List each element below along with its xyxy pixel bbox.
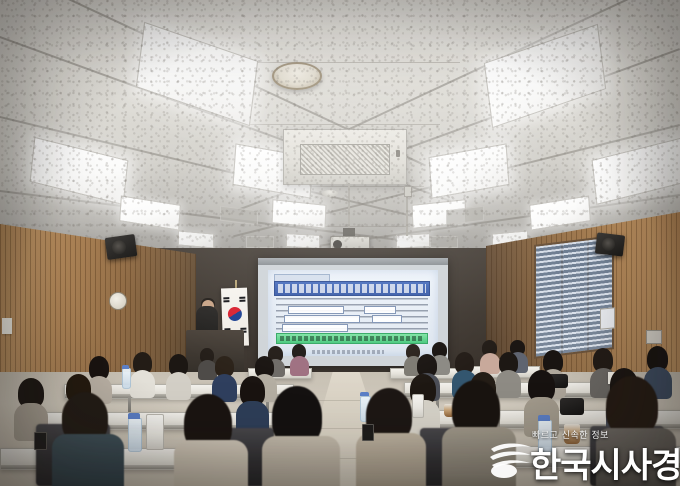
ceiling-vent-tile	[430, 236, 458, 248]
led-panel-light	[429, 143, 510, 198]
wall-speaker-right	[595, 232, 625, 256]
flag-trigram	[239, 297, 245, 299]
water-bottle-icon	[122, 368, 131, 389]
tumbler-icon	[412, 394, 424, 418]
slide-footer-text	[312, 350, 384, 354]
ceiling-grid-line	[233, 125, 680, 238]
speaker-cone-icon	[111, 239, 127, 255]
screen-roller	[258, 258, 448, 265]
ceiling-grid-line	[230, 62, 460, 63]
led-panel-light	[272, 199, 327, 229]
led-panel-light	[30, 137, 129, 205]
handbag-icon	[560, 398, 584, 415]
slide-highlight-box	[372, 315, 402, 323]
flag-trigram	[239, 300, 245, 302]
bottle-cap	[360, 392, 369, 396]
person-torso	[52, 434, 124, 486]
flag-taegeuk	[228, 307, 242, 321]
person-torso	[596, 428, 676, 486]
bottle-cap	[122, 365, 129, 369]
person-torso	[496, 370, 521, 398]
person-torso	[442, 427, 516, 486]
ceiling-sensor-icon	[404, 186, 412, 197]
ceiling-cable	[406, 196, 408, 236]
ceiling-vent-tile	[246, 236, 274, 248]
person-torso	[290, 356, 309, 376]
ceiling-grid-line	[0, 0, 426, 166]
ac-sensor-icon	[396, 150, 400, 157]
led-panel-light	[119, 195, 181, 230]
led-panel-light	[529, 195, 591, 230]
slide-green-highlight-bar	[276, 333, 428, 344]
wall-clock-icon	[109, 292, 127, 310]
seminar-hall-photo: 빠르고 신속한 정보 한국시사경제	[0, 0, 680, 486]
person-torso	[262, 436, 340, 486]
tumbler-icon	[146, 414, 164, 450]
ceiling-grid-line	[268, 186, 424, 187]
person-hair	[606, 376, 658, 436]
ceiling-grid-line	[253, 0, 680, 175]
ceiling-grid-line	[0, 36, 451, 202]
ceiling-grid-line	[0, 116, 457, 227]
led-panel-light	[396, 233, 430, 249]
bottle-cap	[128, 413, 140, 419]
dome-ceiling-light	[272, 62, 322, 90]
slide-highlight-box	[364, 306, 396, 314]
led-panel-light	[136, 22, 258, 126]
led-panel-light	[412, 199, 467, 229]
ceiling-grid-line	[238, 49, 680, 211]
flag-trigram	[223, 300, 229, 302]
water-bottle-icon	[538, 420, 552, 454]
window-mullion	[561, 243, 563, 353]
person-torso	[130, 370, 155, 398]
projector-mount	[343, 228, 355, 237]
ceiling-vent-tile	[446, 206, 484, 226]
slide-title-text	[278, 284, 426, 293]
wall-sign	[600, 307, 615, 329]
smoke-detector-icon	[322, 190, 338, 197]
speaker-cone-icon	[601, 237, 615, 251]
wall-notice-paper	[2, 318, 12, 334]
slide-highlight-box	[284, 315, 360, 323]
mobile-phone-icon	[362, 424, 374, 441]
wall-outlet-icon	[646, 330, 662, 344]
ceiling-vent-tile	[220, 206, 258, 226]
slide-highlight-box	[282, 324, 348, 332]
ceiling-ac-cassette	[283, 129, 407, 185]
slide-highlight-box	[288, 306, 344, 314]
ceiling	[0, 0, 680, 262]
led-panel-light	[286, 233, 320, 249]
mobile-phone-icon	[34, 432, 47, 450]
ac-grille	[300, 144, 390, 175]
water-bottle-icon	[128, 418, 142, 452]
led-panel-light	[484, 24, 606, 128]
led-panel-light	[592, 137, 680, 205]
window-mullion	[587, 240, 589, 350]
ceiling-grid-line	[282, 226, 410, 227]
person-torso	[166, 372, 191, 400]
bottle-cap	[538, 415, 550, 421]
ceiling-cable	[348, 183, 350, 231]
person-torso	[480, 353, 500, 374]
slide-title-bar	[274, 281, 430, 296]
ceiling-grid-line	[250, 124, 440, 125]
coffee-cup-icon	[564, 424, 580, 444]
led-panel-light	[233, 143, 314, 198]
flag-trigram	[223, 297, 229, 299]
led-panel-light	[178, 230, 214, 248]
person-torso	[174, 440, 248, 486]
wall-speaker-left	[105, 234, 138, 260]
